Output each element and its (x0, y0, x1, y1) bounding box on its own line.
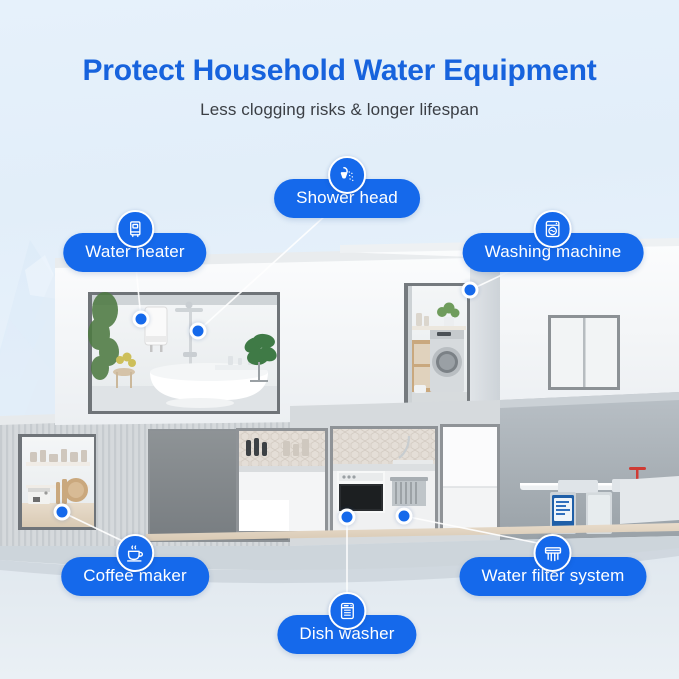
page-title: Protect Household Water Equipment (0, 54, 679, 88)
callout-water-filter-system[interactable]: Water filter system (460, 534, 647, 596)
callout-shower-head[interactable]: Shower head (274, 156, 420, 218)
callout-water-heater[interactable]: Water heater (63, 210, 206, 272)
callout-washing-machine[interactable]: Washing machine (463, 210, 644, 272)
hotspot-shower-head[interactable] (190, 323, 207, 340)
callout-coffee-maker[interactable]: Coffee maker (61, 534, 209, 596)
coffee-cup-icon (116, 534, 154, 572)
hotspot-water-heater[interactable] (133, 311, 150, 328)
shower-head-icon (328, 156, 366, 194)
page-subtitle: Less clogging risks & longer lifespan (0, 100, 679, 120)
hotspot-dish-washer[interactable] (339, 509, 356, 526)
water-heater-icon (116, 210, 154, 248)
callout-dish-washer[interactable]: Dish washer (277, 592, 416, 654)
dish-washer-icon (328, 592, 366, 630)
promo-graphic: Protect Household Water Equipment Less c… (0, 0, 679, 679)
hotspot-coffee-maker[interactable] (54, 504, 71, 521)
hotspot-water-filter[interactable] (396, 508, 413, 525)
hotspot-washing-machine[interactable] (462, 282, 479, 299)
